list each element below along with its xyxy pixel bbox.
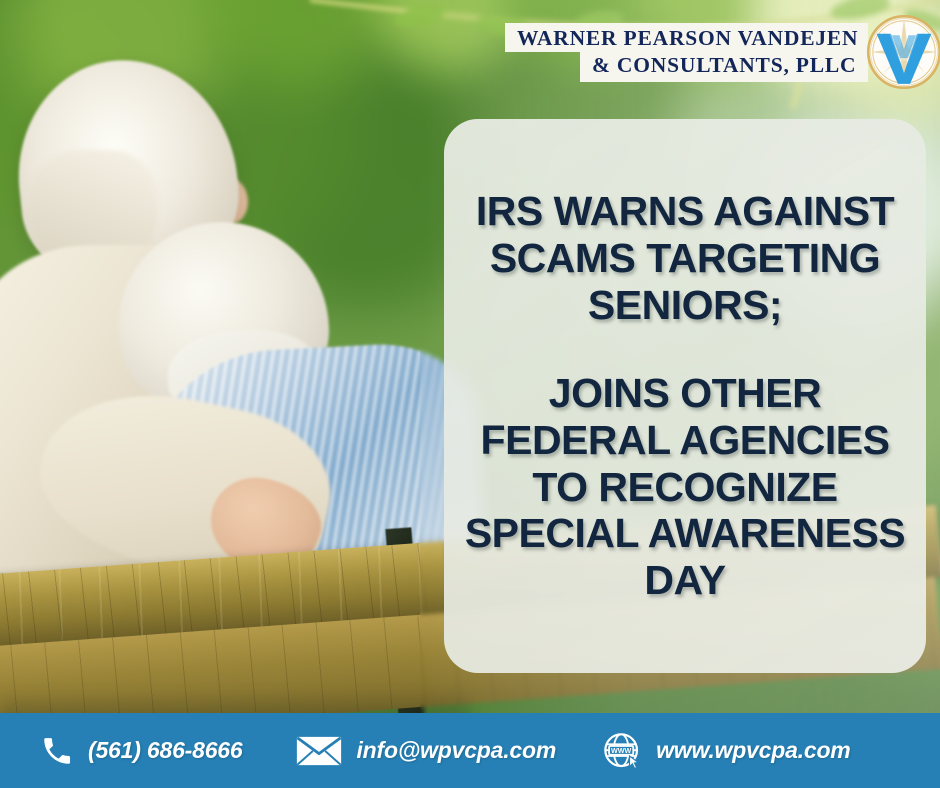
- brand-logo: WARNER PEARSON VANDEJEN & CONSULTANTS, P…: [505, 14, 940, 90]
- headline-part1: IRS WARNS AGAINST SCAMS TARGETING SENIOR…: [458, 188, 912, 328]
- globe-www-label: WWW: [611, 747, 632, 755]
- contact-email[interactable]: info@wpvcpa.com: [296, 734, 556, 768]
- contact-phone[interactable]: (561) 686-8666: [40, 734, 242, 768]
- phone-icon: [40, 734, 74, 768]
- brand-name-line1: WARNER PEARSON VANDEJEN: [505, 23, 868, 53]
- compass-rose-w-monogram-logo: [866, 14, 940, 90]
- globe-www-icon: WWW: [602, 731, 642, 771]
- email-address: info@wpvcpa.com: [356, 737, 556, 764]
- headline-part2: JOINS OTHER FEDERAL AGENCIES TO RECOGNIZ…: [458, 370, 912, 604]
- website-url: www.wpvcpa.com: [656, 737, 850, 764]
- envelope-icon: [296, 734, 342, 768]
- contact-website[interactable]: WWW www.wpvcpa.com: [602, 731, 850, 771]
- phone-number: (561) 686-8666: [88, 737, 242, 764]
- headline-card: IRS WARNS AGAINST SCAMS TARGETING SENIOR…: [444, 119, 926, 673]
- brand-name: WARNER PEARSON VANDEJEN & CONSULTANTS, P…: [505, 23, 868, 82]
- contact-footer-bar: (561) 686-8666 info@wpvcpa.com WWW www.w…: [0, 713, 940, 788]
- social-media-poster: WARNER PEARSON VANDEJEN & CONSULTANTS, P…: [0, 0, 940, 788]
- brand-name-line2: & CONSULTANTS, PLLC: [580, 52, 868, 82]
